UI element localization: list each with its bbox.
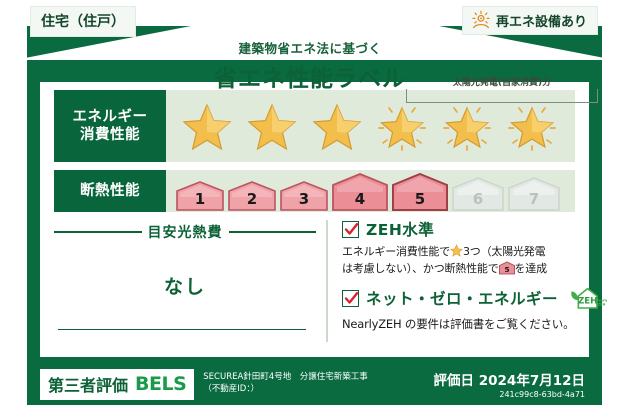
bels-wordmark: BELS [135,373,186,395]
heading-rule-left [54,231,142,233]
insulation-badge-2-value: 2 [247,190,257,208]
insulation-badge-7-value: 7 [529,190,539,208]
insulation-badges: 1 2 3 [176,173,560,211]
insulation-badge-1-value: 1 [195,190,205,208]
bels-logo: 第三者評価 BELS [40,369,194,400]
zeh-standard-item: ZEH水準 [342,218,575,240]
insulation-badge-1: 1 [176,181,224,211]
project-name: SECUREA針田町4号地 分譲住宅新築工事 [203,372,433,384]
zeh-desc-part-a: エネルギー消費性能で [342,245,450,258]
energy-label-line2: 消費性能 [80,126,140,144]
title-block: 建築物省エネ法に基づく 省エネ性能ラベル [0,38,620,93]
utility-cost-heading: 目安光熱費 [54,222,316,242]
star-4-solar [371,97,433,155]
insulation-level-inline-badge: 5 [499,261,515,275]
vertical-divider [326,220,328,342]
insulation-levels-area: 1 2 3 [166,170,575,212]
housing-type-tag: 住宅（住戸） [30,6,136,37]
insulation-badge-6-value: 6 [473,190,483,208]
energy-performance-row: エネルギー 消費性能 太陽光発電(自家消費)分 [54,90,575,162]
zeh-standard-checkbox [342,221,359,238]
insulation-badge-5: 5 [392,173,448,211]
insulation-badge-2: 2 [228,181,276,211]
insulation-badge-5-value: 5 [415,190,425,208]
zeh-standard-label: ZEH水準 [366,218,434,240]
star-rating [176,97,563,155]
star-icon [450,244,463,257]
insulation-performance-label-box: 断熱性能 [54,170,166,212]
zeh-desc-part-c: は考慮しない）、かつ断熱性能で [342,262,499,275]
zeh-panel: ZEH水準 エネルギー消費性能で3つ（太陽光発電は考慮しない）、かつ断熱性能で5… [342,218,575,346]
zeh-standard-description: エネルギー消費性能で3つ（太陽光発電は考慮しない）、かつ断熱性能で5を達成 [342,244,575,277]
net-zero-energy-label: ネット・ゼロ・エネルギー [366,287,558,309]
energy-performance-label-box: エネルギー 消費性能 [54,90,166,162]
property-id: （不動産ID：） [203,384,433,396]
star-6-solar [501,97,563,155]
svg-text:ZEH: ZEH [598,302,606,306]
net-zero-energy-item: ネット・ゼロ・エネルギー ZEH Nearly ZEH [342,285,575,311]
label-card: エネルギー 消費性能 太陽光発電(自家消費)分 [40,82,589,357]
insulation-performance-row: 断熱性能 1 [54,170,575,212]
utility-cost-panel: 目安光熱費 なし [54,218,316,346]
zeh-house-logo-icon: ZEH Nearly ZEH [567,285,607,311]
zeh-desc-part-b: 3つ（太陽光発電 [463,245,545,258]
renewable-equipment-label: 再エネ設備あり [496,11,587,30]
utility-cost-value: なし [54,272,316,299]
evaluation-date: 評価日 2024年7月12日 [434,369,585,389]
energy-performance-stars-area: 太陽光発電(自家消費)分 [166,90,575,162]
footer: 第三者評価 BELS SECUREA針田町4号地 分譲住宅新築工事 （不動産ID… [40,368,589,400]
evaluation-id: 241c99c8-63bd-4a71 [434,390,585,399]
star-1 [176,97,238,155]
zeh-note: NearlyZEH の要件は評価書をご覧ください。 [342,316,575,332]
title-subtitle: 建築物省エネ法に基づく [0,38,620,57]
project-info: SECUREA針田町4号地 分譲住宅新築工事 （不動産ID：） [203,372,433,396]
energy-performance-label: 住宅（住戸） 再エネ設備あり 建築物省エネ法に基づく 省 [0,0,620,413]
evaluation-info: 評価日 2024年7月12日 241c99c8-63bd-4a71 [434,369,589,399]
insulation-badge-4-value: 4 [355,190,365,208]
star-3 [306,97,368,155]
bels-third-party-label: 第三者評価 [48,372,128,396]
utility-cost-heading-text: 目安光熱費 [148,222,223,242]
insulation-badge-7: 7 [508,177,560,211]
star-5-solar [436,97,498,155]
svg-text:5: 5 [504,265,509,274]
insulation-badge-6: 6 [452,177,504,211]
lower-section: 目安光熱費 なし ZEH水準 エネルギー消費性能で3つ（ [54,218,575,348]
svg-text:ZEH: ZEH [578,296,597,306]
heading-rule-right [229,231,317,233]
insulation-badge-3: 3 [280,181,328,211]
page-title: 省エネ性能ラベル [0,59,620,93]
utility-cost-bottom-rule [58,329,306,331]
sun-icon [471,10,491,30]
zeh-desc-part-d: を達成 [515,262,547,275]
renewable-equipment-badge: 再エネ設備あり [462,6,598,35]
net-zero-energy-checkbox [342,290,359,307]
insulation-label: 断熱性能 [80,182,140,200]
energy-label-line1: エネルギー [73,108,148,126]
insulation-badge-3-value: 3 [299,190,309,208]
star-2 [241,97,303,155]
insulation-badge-4: 4 [332,173,388,211]
